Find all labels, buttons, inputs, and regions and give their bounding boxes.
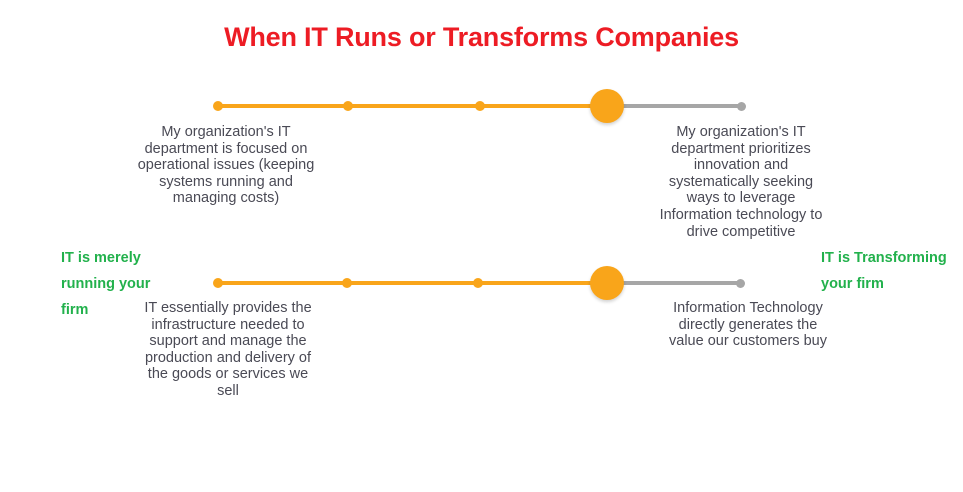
caption-row-2-right: Information Technology directly generate…	[660, 300, 836, 350]
slider-tick-1-0[interactable]	[213, 101, 223, 111]
caption-row-1-left: My organization's IT department is focus…	[133, 124, 319, 207]
slider-thumb-2[interactable]	[590, 266, 624, 300]
slider-track-remainder-1[interactable]	[607, 104, 741, 108]
slider-track-remainder-2[interactable]	[607, 281, 741, 285]
slider-track-filled-1[interactable]	[218, 104, 607, 108]
page-title: When IT Runs or Transforms Companies	[0, 22, 963, 53]
slider-tick-2-end[interactable]	[736, 279, 745, 288]
slider-thumb-1[interactable]	[590, 89, 624, 123]
slider-tick-1-2[interactable]	[475, 101, 485, 111]
slider-track-filled-2[interactable]	[218, 281, 607, 285]
caption-row-1-right: My organization's IT department prioriti…	[651, 124, 831, 240]
slider-tick-1-end[interactable]	[737, 102, 746, 111]
slider-tick-2-1[interactable]	[342, 278, 352, 288]
anchor-label-left: IT is merely running your firm	[61, 245, 181, 323]
slider-tick-2-2[interactable]	[473, 278, 483, 288]
infographic-canvas: When IT Runs or Transforms Companies My …	[0, 0, 963, 492]
anchor-label-right: IT is Transforming your firm	[821, 245, 951, 297]
slider-tick-1-1[interactable]	[343, 101, 353, 111]
slider-tick-2-0[interactable]	[213, 278, 223, 288]
